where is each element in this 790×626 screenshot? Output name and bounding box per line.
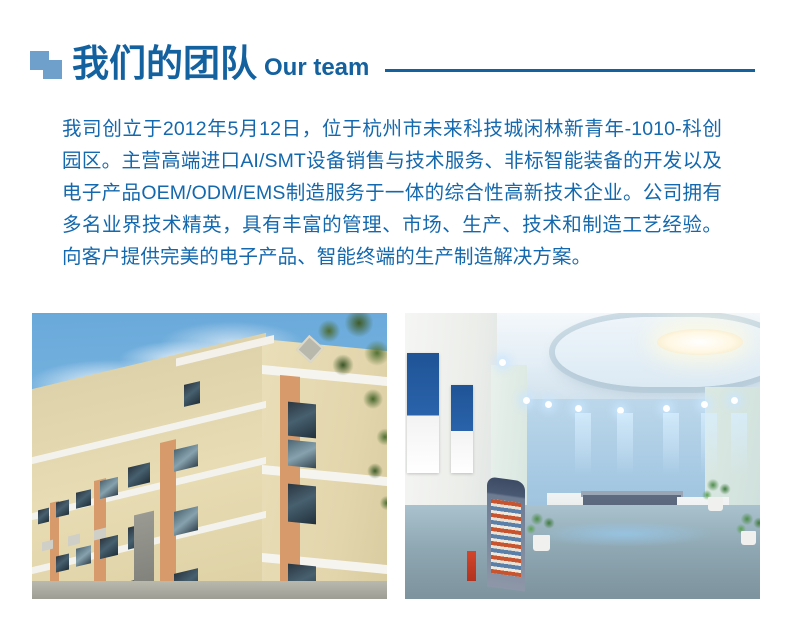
section-header: 我们的团队 Our team <box>0 38 790 90</box>
plant-pot <box>708 497 723 511</box>
tree <box>307 313 387 537</box>
wall-poster <box>407 353 439 473</box>
spot-light <box>545 401 552 408</box>
spot-light <box>575 405 582 412</box>
office-lobby-photo <box>405 313 760 599</box>
company-intro-paragraph: 我司创立于2012年5月12日，位于杭州市未来科技城闲林新青年-1010-科创园… <box>62 113 722 273</box>
building-scene <box>32 313 387 599</box>
window <box>184 381 200 407</box>
header-divider-rule <box>385 69 755 72</box>
company-building-photo <box>32 313 387 599</box>
ground-strip <box>32 581 387 599</box>
lobby-floor <box>405 505 760 599</box>
light-beam <box>663 413 679 475</box>
light-beam <box>731 413 747 475</box>
floor-light-reflection <box>535 521 715 547</box>
team-intro-page: 我们的团队 Our team 我司创立于2012年5月12日，位于杭州市未来科技… <box>0 0 790 626</box>
spot-light <box>701 401 708 408</box>
spot-light <box>523 397 530 404</box>
window <box>76 545 91 567</box>
light-beam <box>701 413 717 475</box>
photo-gallery-row <box>0 313 790 599</box>
two-squares-icon <box>30 49 64 79</box>
page-title-cn: 我们的团队 <box>72 45 257 82</box>
fire-extinguisher <box>467 551 476 581</box>
lobby-scene <box>405 313 760 599</box>
plant-pot <box>741 531 756 545</box>
ceiling-ring <box>555 317 760 387</box>
spot-light <box>731 397 738 404</box>
page-title-en: Our team <box>264 56 369 80</box>
window <box>38 508 49 525</box>
light-beam <box>617 413 633 475</box>
window <box>56 553 69 572</box>
brochure-stack <box>491 499 521 577</box>
window <box>56 499 69 517</box>
wall-poster <box>451 385 473 473</box>
square-front-shape <box>43 60 62 79</box>
spot-light <box>499 359 506 366</box>
spot-light <box>663 405 670 412</box>
light-beam <box>575 413 591 475</box>
plant-pot <box>533 535 550 551</box>
ceiling-dome-light <box>657 329 743 355</box>
